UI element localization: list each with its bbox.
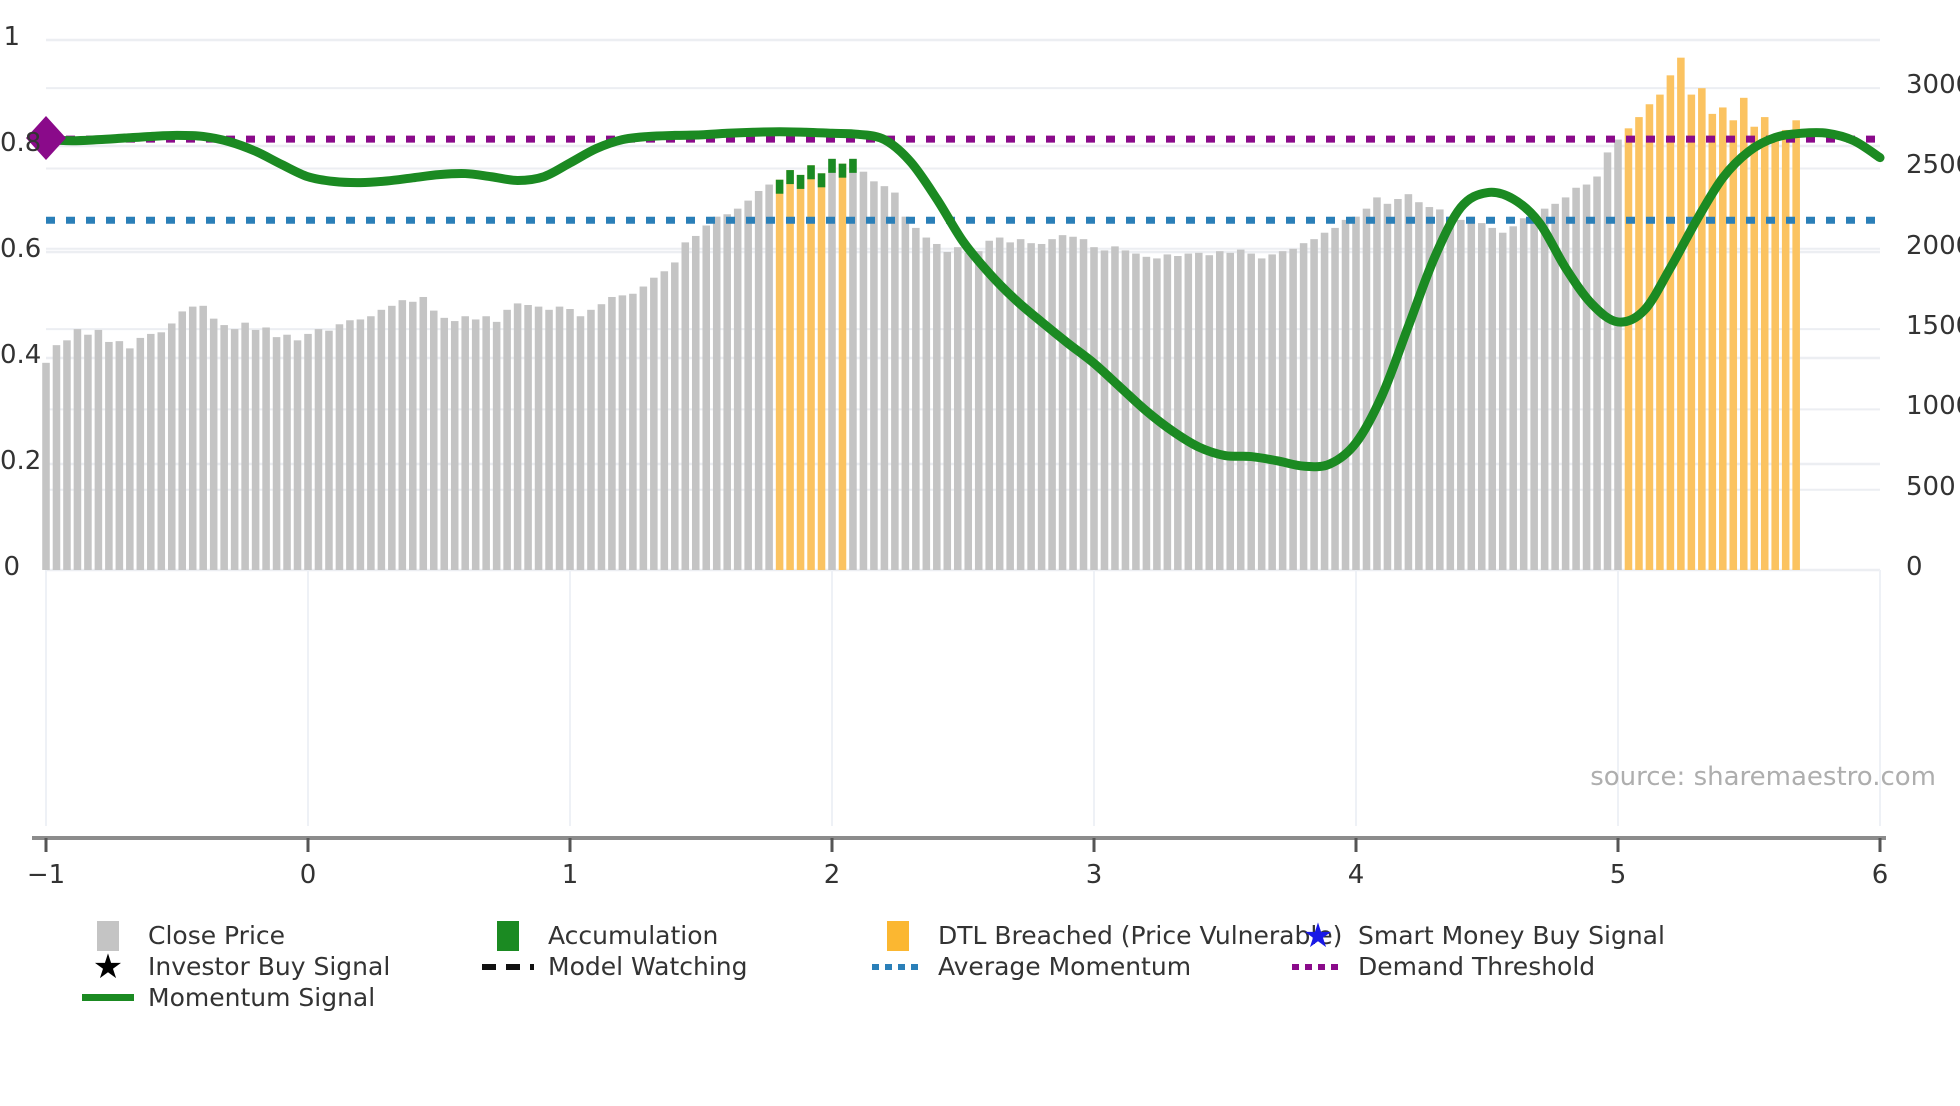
y-axis-right-tick-label: 1500 (1906, 311, 1960, 341)
bar (1363, 209, 1371, 570)
bar (1185, 254, 1193, 570)
legend-item-momentum-signal[interactable]: Momentum Signal (78, 982, 478, 1013)
x-axis-tick-label: −1 (0, 860, 96, 890)
bar (178, 311, 186, 570)
legend-item-average-momentum[interactable]: Average Momentum (868, 951, 1288, 982)
bar (1164, 254, 1172, 570)
bar (1509, 226, 1517, 570)
bar (964, 253, 972, 570)
x-axis-tick-label: 5 (1568, 860, 1668, 890)
bar (1226, 253, 1234, 570)
bar (556, 307, 564, 570)
bar (1132, 254, 1140, 570)
bar (1646, 104, 1654, 570)
bar (1258, 258, 1266, 570)
bar (535, 307, 543, 570)
bar (262, 327, 270, 570)
legend-item-smart-money-buy-signal[interactable]: ★Smart Money Buy Signal (1288, 920, 1688, 951)
y-axis-right-tick-label: 1000 (1906, 391, 1960, 421)
bar (84, 335, 92, 570)
bar (1237, 250, 1245, 570)
black-star-icon-glyph: ★ (93, 952, 123, 982)
accumulation-bar-cap (786, 170, 794, 184)
bar (1373, 197, 1381, 570)
dashed-line-swatch-glyph (482, 964, 534, 970)
bar (199, 306, 207, 570)
accumulation-bar-cap (839, 164, 847, 178)
solid-line-swatch-glyph (82, 994, 134, 1001)
bar (1698, 88, 1706, 570)
gray-bar-swatch-glyph (97, 921, 119, 951)
bar (776, 180, 784, 570)
bar (241, 323, 249, 570)
blue-star-icon-glyph: ★ (1303, 921, 1333, 951)
bar (482, 316, 490, 570)
bar (1415, 202, 1423, 570)
bar (1080, 239, 1088, 570)
bar (1572, 188, 1580, 570)
legend-label: Smart Money Buy Signal (1358, 921, 1665, 950)
bar (283, 335, 291, 570)
bar (367, 316, 375, 570)
legend-label: Momentum Signal (148, 983, 375, 1012)
bar (1530, 215, 1538, 570)
chart-canvas: 00.20.40.60.81050010001500200025003000−1… (0, 0, 1960, 1102)
black-star-icon: ★ (78, 952, 138, 982)
bar (797, 175, 805, 570)
bar (273, 337, 281, 570)
bar (577, 316, 585, 570)
bar (1604, 152, 1612, 570)
bar (598, 304, 606, 570)
bar (744, 201, 752, 570)
bar (640, 287, 648, 570)
y-axis-right-tick-label: 0 (1906, 552, 1923, 582)
bar (514, 303, 522, 570)
bar (388, 306, 396, 570)
bar (545, 310, 553, 570)
green-bar-swatch-glyph (497, 921, 519, 951)
x-axis-tick-label: 4 (1306, 860, 1406, 890)
bar (661, 271, 669, 570)
bar (975, 251, 983, 570)
bar-series-close-price (42, 58, 1800, 570)
accumulation-bar-cap (776, 180, 784, 194)
dotted-line-swatch-glyph (872, 964, 924, 970)
bar (1520, 218, 1528, 570)
bar (1048, 239, 1056, 570)
bar (860, 172, 868, 570)
bar (902, 217, 910, 570)
legend-item-model-watching[interactable]: Model Watching (478, 951, 868, 982)
bar (524, 305, 532, 570)
source-note: source: sharemaestro.com (1590, 762, 1936, 792)
bar (671, 262, 679, 570)
bar (723, 214, 731, 570)
bar (1688, 95, 1696, 570)
bar (63, 340, 71, 570)
bar (451, 321, 459, 570)
y-axis-right-tick-label: 2500 (1906, 150, 1960, 180)
bar (168, 323, 176, 570)
bar (1059, 235, 1067, 570)
bar (1289, 249, 1297, 570)
accumulation-bar-cap (828, 159, 836, 173)
bar (42, 363, 50, 570)
bar (1038, 244, 1046, 570)
bar (1635, 117, 1643, 570)
bar (682, 242, 690, 570)
bar (1488, 228, 1496, 570)
bar (619, 295, 627, 570)
bar (1195, 253, 1203, 570)
bar (818, 173, 826, 570)
bar (1478, 223, 1486, 570)
bar (1667, 75, 1675, 570)
accumulation-bar-cap (797, 175, 805, 189)
y-axis-left-tick-label: 0.2 (0, 446, 20, 476)
dashed-line-swatch (478, 952, 538, 982)
bar (1394, 199, 1402, 570)
bar (1216, 251, 1224, 570)
bar (420, 297, 428, 570)
bar (220, 325, 228, 570)
bar (881, 186, 889, 570)
bar (629, 294, 637, 570)
y-axis-right-tick-label: 500 (1906, 472, 1956, 502)
bar (325, 331, 333, 570)
bar (346, 320, 354, 570)
legend-label: Demand Threshold (1358, 952, 1595, 981)
bar (786, 170, 794, 570)
bar (713, 217, 721, 570)
legend-item-accumulation[interactable]: Accumulation (478, 920, 868, 951)
legend-item-investor-buy-signal[interactable]: ★Investor Buy Signal (78, 951, 478, 982)
bar (1321, 233, 1329, 570)
bar (912, 228, 920, 570)
bar (336, 324, 344, 570)
bar (765, 185, 773, 570)
bar (409, 302, 417, 570)
bar (95, 330, 103, 570)
bar (944, 252, 952, 570)
legend-label: Close Price (148, 921, 285, 950)
bar (440, 318, 448, 570)
bar (1436, 209, 1444, 570)
bar (1279, 251, 1287, 570)
bar (608, 297, 616, 570)
y-axis-left-tick-label: 0.8 (0, 128, 20, 158)
solid-line-swatch (78, 983, 138, 1013)
bar (1593, 177, 1601, 570)
bar (1447, 217, 1455, 570)
y-axis-right-tick-label: 3000 (1906, 70, 1960, 100)
bar (870, 181, 878, 570)
bar (116, 341, 124, 570)
bar (985, 241, 993, 570)
bar (1771, 136, 1779, 570)
bar (1562, 197, 1570, 570)
bar (53, 345, 61, 570)
orange-bar-swatch-glyph (887, 921, 909, 951)
y-axis-left-tick-label: 0.6 (0, 234, 20, 264)
bar (1206, 255, 1214, 570)
bar (1614, 140, 1622, 570)
bar (1792, 120, 1800, 570)
bar (1111, 246, 1119, 570)
accumulation-bar-cap (807, 165, 815, 179)
bar (1122, 250, 1130, 570)
bar (734, 209, 742, 570)
y-axis-left-tick-label: 0 (0, 552, 20, 582)
bar (1247, 254, 1255, 570)
x-axis-tick-label: 2 (782, 860, 882, 890)
bar (1730, 120, 1738, 570)
legend-item-demand-threshold[interactable]: Demand Threshold (1288, 951, 1688, 982)
bar (137, 338, 145, 570)
bar (702, 226, 710, 571)
orange-bar-swatch (868, 921, 928, 951)
bar (189, 307, 197, 570)
bar (1300, 243, 1308, 570)
bar (105, 342, 113, 570)
dotted-line-swatch-glyph (1292, 964, 1344, 970)
bar (807, 165, 815, 570)
dotted-line-swatch (1288, 952, 1348, 982)
bar (1101, 250, 1109, 570)
green-bar-swatch (478, 921, 538, 951)
x-axis-tick-label: 6 (1830, 860, 1930, 890)
dotted-line-swatch (868, 952, 928, 982)
bar (231, 329, 239, 570)
accumulation-bar-cap (818, 173, 826, 187)
legend-label: Model Watching (548, 952, 748, 981)
bar (1583, 185, 1591, 570)
bar (210, 319, 218, 570)
bar (252, 330, 260, 570)
bar (923, 238, 931, 570)
x-axis-tick-label: 1 (520, 860, 620, 890)
bar (1310, 239, 1318, 570)
bar (1656, 95, 1664, 570)
bar (1174, 256, 1182, 570)
legend-label: DTL Breached (Price Vulnerable) (938, 921, 1342, 950)
bar (503, 310, 511, 570)
bar (1017, 239, 1025, 570)
legend-item-dtl-breached-price-vulnerable[interactable]: DTL Breached (Price Vulnerable) (868, 920, 1288, 951)
bar (1331, 228, 1339, 570)
bar (1625, 128, 1633, 570)
x-axis-tick-label: 0 (258, 860, 358, 890)
bar (1740, 98, 1748, 570)
bar (1027, 243, 1035, 570)
bar (1677, 58, 1685, 570)
bar (472, 319, 480, 570)
bar (1468, 217, 1476, 570)
bar (839, 164, 847, 570)
bar (1750, 127, 1758, 570)
bar (1342, 220, 1350, 570)
bar (315, 329, 323, 570)
bar (1352, 217, 1360, 570)
legend-label: Average Momentum (938, 952, 1191, 981)
bar (1782, 130, 1790, 570)
bar (461, 316, 469, 570)
x-axis-tick-label: 3 (1044, 860, 1144, 890)
bar (891, 193, 899, 570)
bar (933, 244, 941, 570)
accumulation-bar-cap (849, 159, 857, 173)
bar (1499, 233, 1507, 570)
bar (1268, 254, 1276, 570)
bar (1069, 237, 1077, 570)
bar (399, 300, 407, 570)
bar (1090, 247, 1098, 570)
bar (493, 322, 501, 570)
bar (304, 334, 312, 570)
bar (755, 191, 763, 570)
bar (1541, 209, 1549, 570)
gray-bar-swatch (78, 921, 138, 951)
bar (357, 319, 365, 570)
bar (1761, 117, 1769, 570)
y-axis-left-tick-label: 0.4 (0, 340, 20, 370)
bar (566, 309, 574, 570)
y-axis-left-tick-label: 1 (0, 22, 20, 52)
bar (650, 278, 658, 570)
bar (74, 329, 82, 570)
legend-label: Investor Buy Signal (148, 952, 390, 981)
legend-item-close-price[interactable]: Close Price (78, 920, 478, 951)
bar (692, 236, 700, 570)
bar (430, 311, 438, 570)
bar (954, 247, 962, 570)
bar (126, 348, 134, 570)
legend-label: Accumulation (548, 921, 718, 950)
bar (158, 332, 166, 570)
bar (1405, 194, 1413, 570)
bar (147, 334, 155, 570)
bar (1457, 220, 1465, 570)
y-axis-right-tick-label: 2000 (1906, 231, 1960, 261)
chart-legend: Close PriceAccumulationDTL Breached (Pri… (78, 920, 1928, 1013)
bar (587, 310, 595, 570)
blue-star-icon: ★ (1288, 921, 1348, 951)
bar (378, 310, 386, 570)
bar (294, 340, 302, 570)
